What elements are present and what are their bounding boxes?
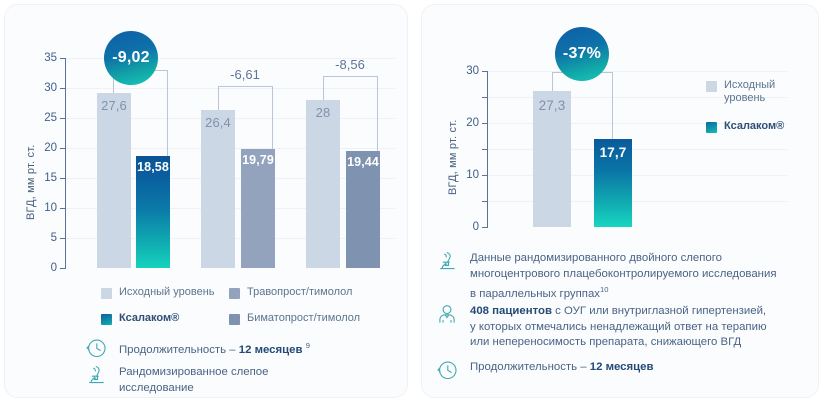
microscope-icon (434, 248, 460, 274)
note-text-duration-left: Продолжительность – 12 месяцев 9 (119, 335, 310, 358)
y-tick-label: 10 (31, 202, 57, 214)
panel-right: ВГД, мм рт. ст. 30 20 10 0 27,3 17,7 -37… (421, 4, 819, 398)
gridline (487, 201, 787, 202)
legend-item-ksalakom-right[interactable]: Ксалаком® (706, 120, 784, 133)
note-text-duration-right: Продолжительность – 12 месяцев (470, 357, 654, 376)
y-tick (60, 58, 66, 59)
y-tick-label: 10 (453, 169, 479, 181)
legend-swatch-ksalakom-right (706, 122, 717, 133)
legend-swatch-travoprost (229, 288, 240, 299)
legend-item-travoprost[interactable]: Травопрост/тимолол (229, 286, 352, 299)
legend-label-travoprost: Травопрост/тимолол (247, 286, 352, 299)
panel-left: ВГД, мм рт. ст. 35 30 25 20 15 10 5 0 27… (4, 4, 408, 398)
delta-label-2: -6,61 (230, 67, 260, 82)
y-tick (60, 208, 66, 209)
y-tick-label: 30 (31, 82, 57, 94)
legend-swatch-baseline-right (706, 81, 717, 92)
legend-item-ksalakom[interactable]: Ксалаком® (101, 312, 179, 325)
legend-label-bimatoprost: Биматопрост/тимолол (247, 312, 360, 325)
delta-badge-left: -9,02 (104, 31, 158, 85)
gridline (487, 149, 787, 150)
y-tick (60, 238, 66, 239)
y-tick-label: 0 (31, 262, 57, 274)
y-tick-label: 35 (31, 52, 57, 64)
bar-baseline-right[interactable]: 27,3 (533, 91, 571, 227)
bar-ksalakom-right[interactable]: 17,7 (594, 139, 632, 227)
bar-travoprost[interactable]: 19,79 (241, 149, 275, 268)
legend-item-baseline-right[interactable]: Исходный уровень (706, 79, 775, 105)
y-tick-label: 25 (31, 112, 57, 124)
y-tick (482, 123, 488, 124)
y-tick-minor (482, 97, 487, 98)
bar-ksalakom-1[interactable]: 18,58 (136, 156, 170, 268)
y-tick (482, 227, 488, 228)
note-study-right: Данные рандомизированного двойного слепо… (434, 248, 812, 302)
gridline (487, 175, 787, 176)
y-tick (60, 178, 66, 179)
legend-swatch-baseline (101, 288, 112, 299)
gridline (487, 71, 787, 72)
y-tick (60, 88, 66, 89)
bar-value-baseline-2: 26,4 (201, 115, 235, 130)
legend-label-ksalakom: Ксалаком® (119, 312, 179, 325)
y-tick (482, 71, 488, 72)
legend-label-ksalakom-right: Ксалаком® (724, 120, 784, 133)
y-tick-label: 0 (453, 221, 479, 233)
note-text-patients-right: 408 пациентов с ОУГ или внутриглазной ги… (470, 301, 767, 351)
bar-value-travoprost: 19,79 (241, 153, 275, 167)
y-tick-label: 15 (31, 172, 57, 184)
slide-stage: ВГД, мм рт. ст. 35 30 25 20 15 10 5 0 27… (0, 0, 821, 402)
legend-swatch-bimatoprost (229, 314, 240, 325)
bar-value-bimatoprost: 19,44 (346, 155, 380, 169)
left-y-axis-line (65, 58, 66, 268)
note-duration-left: Продолжительность – 12 месяцев 9 (83, 335, 383, 361)
microscope-icon (83, 362, 109, 388)
bar-bimatoprost[interactable]: 19,44 (346, 151, 380, 268)
note-text-study-left: Рандомизированное слепоеисследование (119, 362, 268, 396)
y-tick-label: 30 (453, 65, 479, 77)
note-text-study-right: Данные рандомизированного двойного слепо… (470, 248, 776, 302)
legend-label-baseline-right: Исходный уровень (724, 79, 775, 105)
legend-label-baseline: Исходный уровень (119, 286, 215, 299)
delta-label-3: -8,56 (335, 57, 365, 72)
bar-baseline-3[interactable]: 28 (306, 100, 340, 268)
clock-icon (434, 357, 460, 383)
legend-swatch-ksalakom (101, 314, 112, 325)
y-tick-minor (482, 149, 487, 150)
y-tick (60, 148, 66, 149)
y-tick-label: 20 (453, 117, 479, 129)
bar-value-ksalakom-right: 17,7 (594, 145, 632, 160)
y-tick-label: 5 (31, 232, 57, 244)
bar-baseline-2[interactable]: 26,4 (201, 110, 235, 268)
legend-item-baseline[interactable]: Исходный уровень (101, 286, 215, 299)
person-icon (434, 301, 460, 327)
right-y-axis-line (487, 71, 488, 227)
bar-value-baseline-right: 27,3 (533, 98, 571, 113)
y-tick (60, 268, 66, 269)
bar-baseline-1[interactable]: 27,6 (97, 93, 131, 268)
delta-badge-right: -37% (555, 27, 609, 81)
bar-value-ksalakom-1: 18,58 (136, 160, 170, 174)
y-tick (482, 175, 488, 176)
y-tick (60, 118, 66, 119)
note-study-left: Рандомизированное слепоеисследование (83, 362, 383, 396)
y-tick-label: 20 (31, 142, 57, 154)
bar-value-baseline-3: 28 (306, 105, 340, 120)
y-tick-minor (482, 201, 487, 202)
legend-item-bimatoprost[interactable]: Биматопрост/тимолол (229, 312, 360, 325)
right-y-axis-title: ВГД, мм рт. ст. (447, 120, 459, 195)
note-duration-right: Продолжительность – 12 месяцев (434, 357, 812, 383)
note-patients-right: 408 пациентов с ОУГ или внутриглазной ги… (434, 301, 812, 351)
bar-value-baseline-1: 27,6 (97, 98, 131, 113)
clock-icon (83, 335, 109, 361)
